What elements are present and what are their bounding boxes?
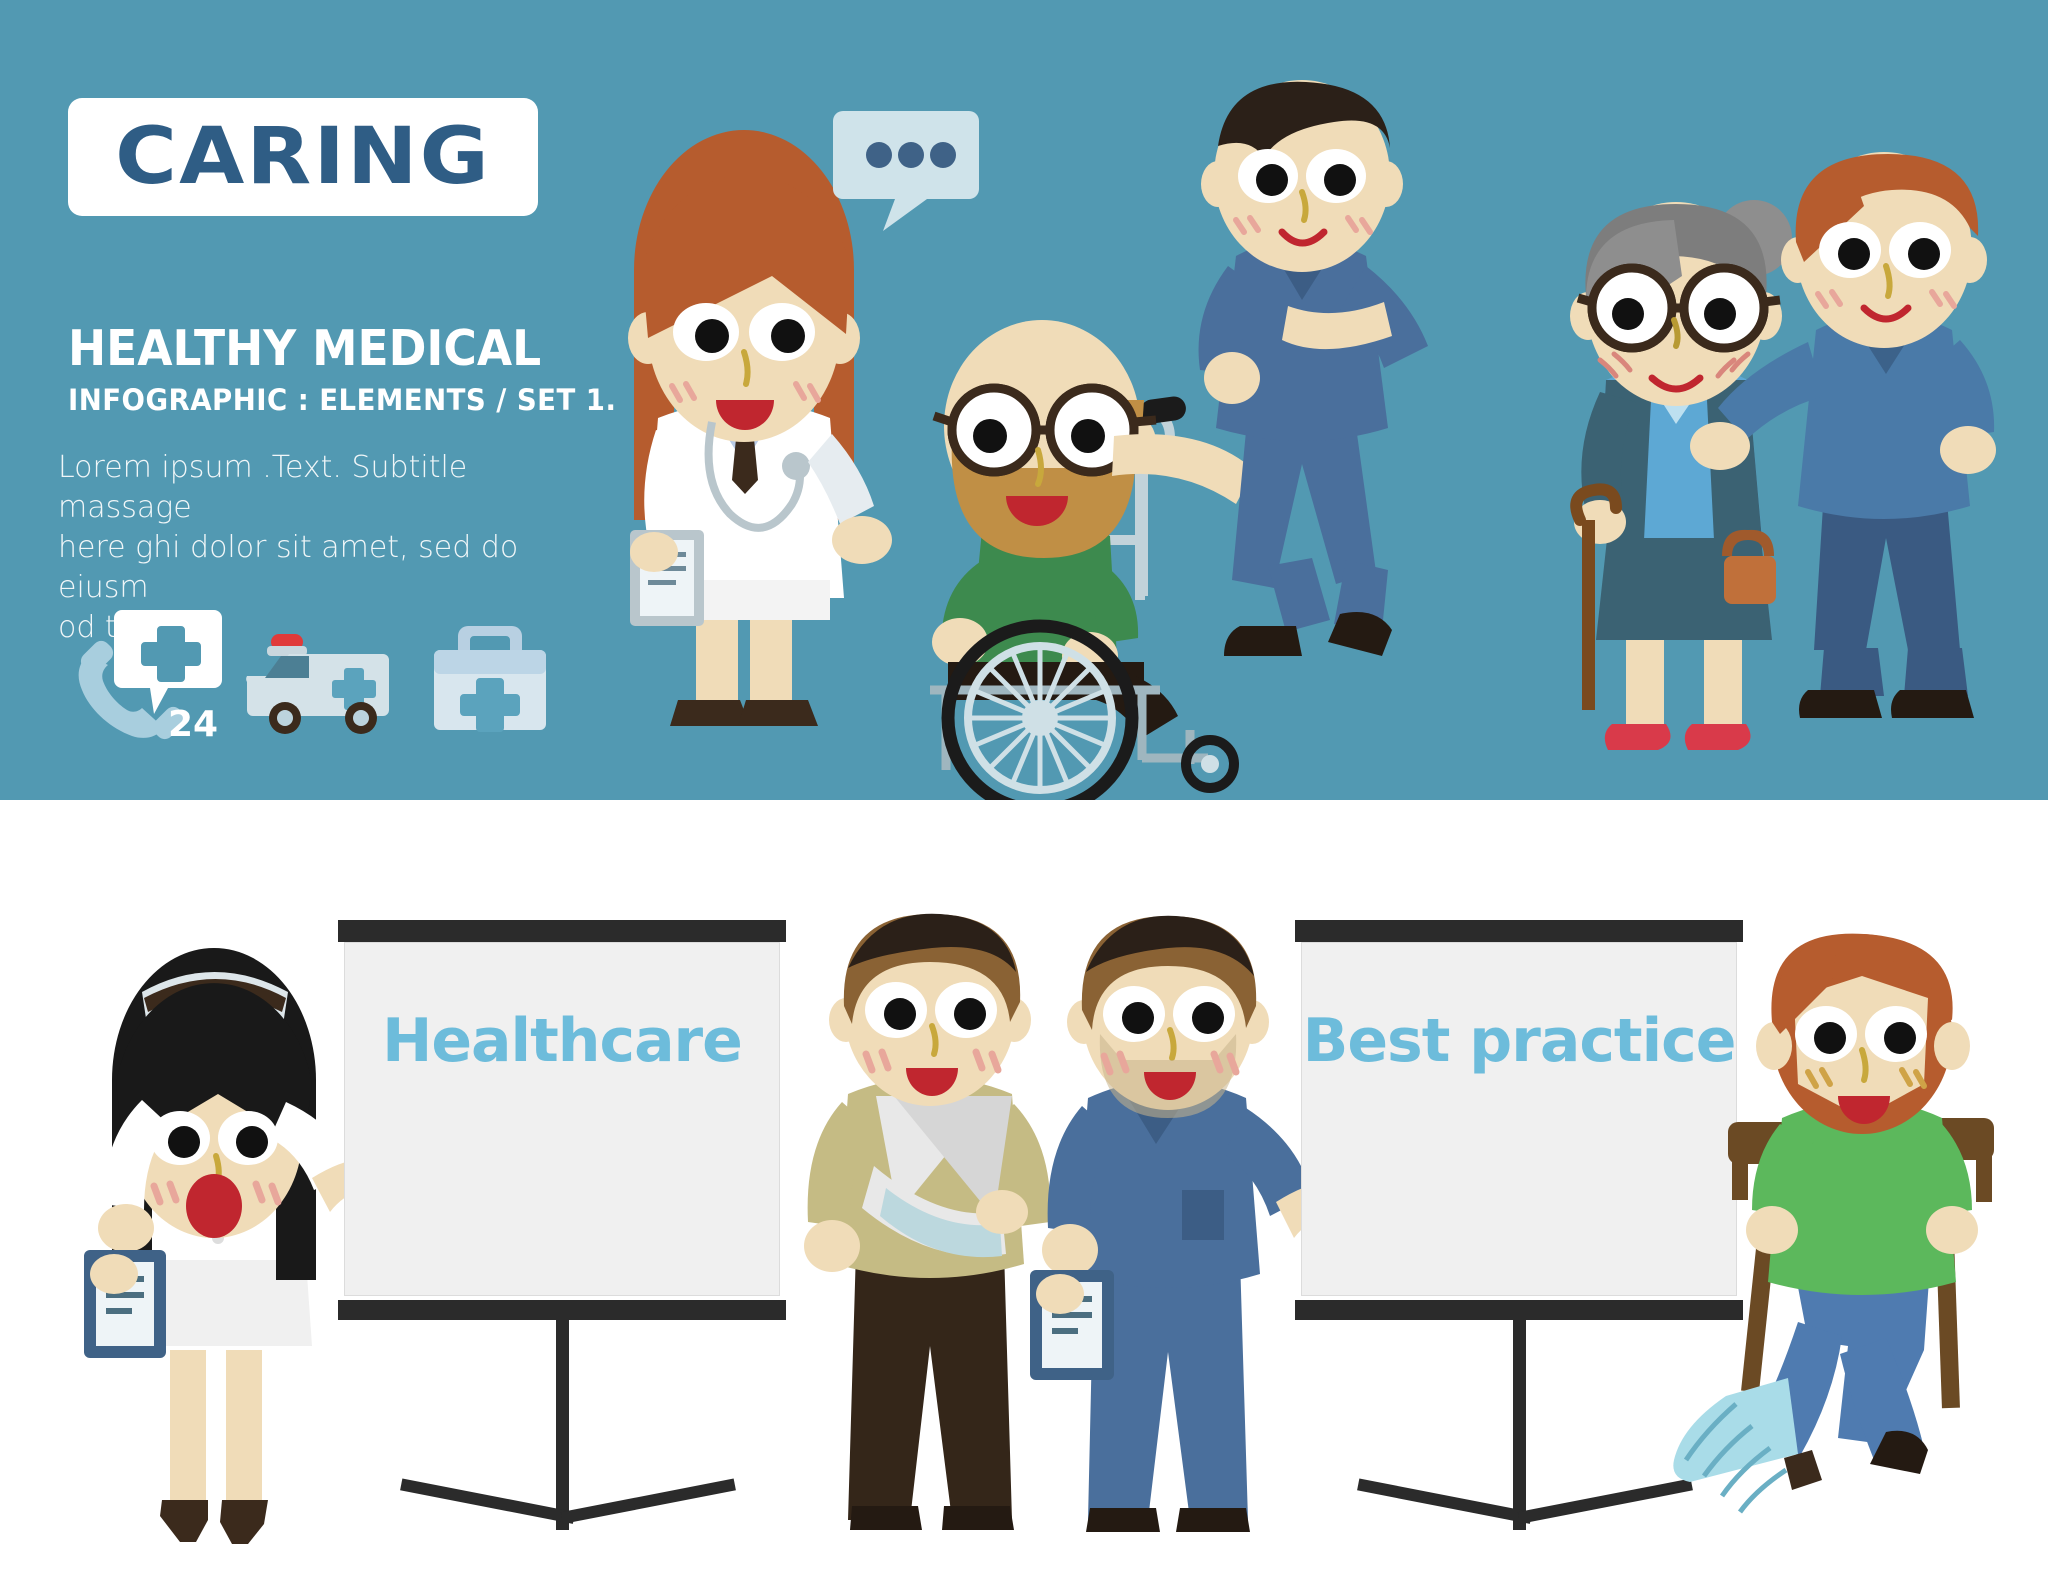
- board-face: [344, 942, 780, 1296]
- header-band: CARING HEALTHY MEDICAL INFOGRAPHIC : ELE…: [0, 0, 2048, 800]
- board-top-bar: [338, 920, 786, 942]
- man-on-crutches: [1690, 930, 2048, 1590]
- board-leg-left: [400, 1479, 575, 1524]
- page-title: CARING: [115, 118, 491, 196]
- infographic-canvas: CARING HEALTHY MEDICAL INFOGRAPHIC : ELE…: [0, 0, 2048, 1593]
- lower-section: Healthcare: [0, 800, 2048, 1593]
- male-caregiver: [1760, 150, 2048, 800]
- board-bottom-bar: [1295, 1300, 1743, 1320]
- phone-badge-label: 24: [168, 704, 218, 745]
- board-label: Healthcare: [338, 1006, 786, 1076]
- board-leg-center: [1513, 1320, 1526, 1530]
- best-practice-board[interactable]: Best practice: [1295, 920, 1743, 1350]
- first-aid-kit-icon: [430, 622, 550, 734]
- ambulance-icon: [245, 624, 395, 736]
- body-line-1: Lorem ipsum .Text. Subtitle massage: [58, 448, 548, 528]
- body-line-2: here ghi dolor sit amet, sed do eiusm: [58, 528, 548, 608]
- phone-badge-24: 24: [168, 704, 218, 745]
- board-leg-right: [561, 1479, 736, 1524]
- title-plate: CARING: [68, 98, 538, 216]
- healthcare-board[interactable]: Healthcare: [338, 920, 786, 1350]
- header-subtitle-primary: HEALTHY MEDICAL: [68, 320, 541, 377]
- board-leg-right: [1518, 1479, 1693, 1524]
- board-label: Best practice: [1295, 1006, 1743, 1076]
- man-with-arm-sling: [790, 910, 1070, 1590]
- board-leg-left: [1357, 1479, 1532, 1524]
- speech-bubble: [835, 105, 985, 235]
- board-top-bar: [1295, 920, 1743, 942]
- board-face: [1301, 942, 1737, 1296]
- header-subtitle-secondary: INFOGRAPHIC : ELEMENTS / SET 1.: [68, 383, 616, 417]
- board-leg-center: [556, 1320, 569, 1530]
- male-nurse-pushing-wheelchair: [1180, 80, 1500, 700]
- header-icon-row: 24: [70, 612, 540, 742]
- board-bottom-bar: [338, 1300, 786, 1320]
